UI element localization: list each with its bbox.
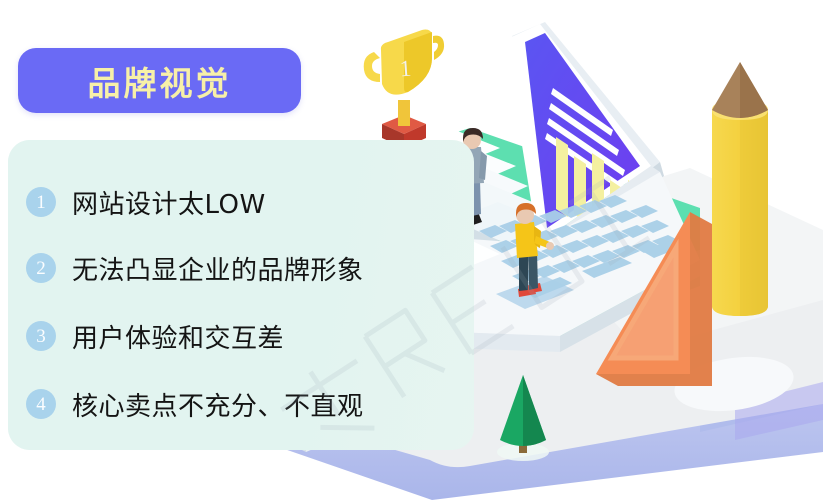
title-badge: 品牌视觉 [18,48,301,113]
pain-points-list: 1 网站设计太LOW 2 无法凸显企业的品牌形象 3 用户体验和交互差 4 核心… [8,140,478,450]
list-item-number: 1 [26,187,56,217]
banner-canvas: 1 [0,0,823,500]
list-item: 2 无法凸显企业的品牌形象 [26,248,364,288]
list-item-label: 用户体验和交互差 [72,318,284,355]
list-item-number: 4 [26,389,56,419]
trophy-rank-label: 1 [399,56,412,82]
list-item-label: 网站设计太LOW [72,184,266,221]
pencil [712,62,768,316]
list-item-number: 3 [26,321,56,351]
list-item: 1 网站设计太LOW [26,182,266,222]
list-item-number: 2 [26,253,56,283]
list-item-label: 核心卖点不充分、不直观 [72,386,364,423]
list-item: 3 用户体验和交互差 [26,316,284,356]
list-item-label: 无法凸显企业的品牌形象 [72,250,364,287]
title-badge-label: 品牌视觉 [88,57,232,105]
list-item: 4 核心卖点不充分、不直观 [26,384,364,424]
